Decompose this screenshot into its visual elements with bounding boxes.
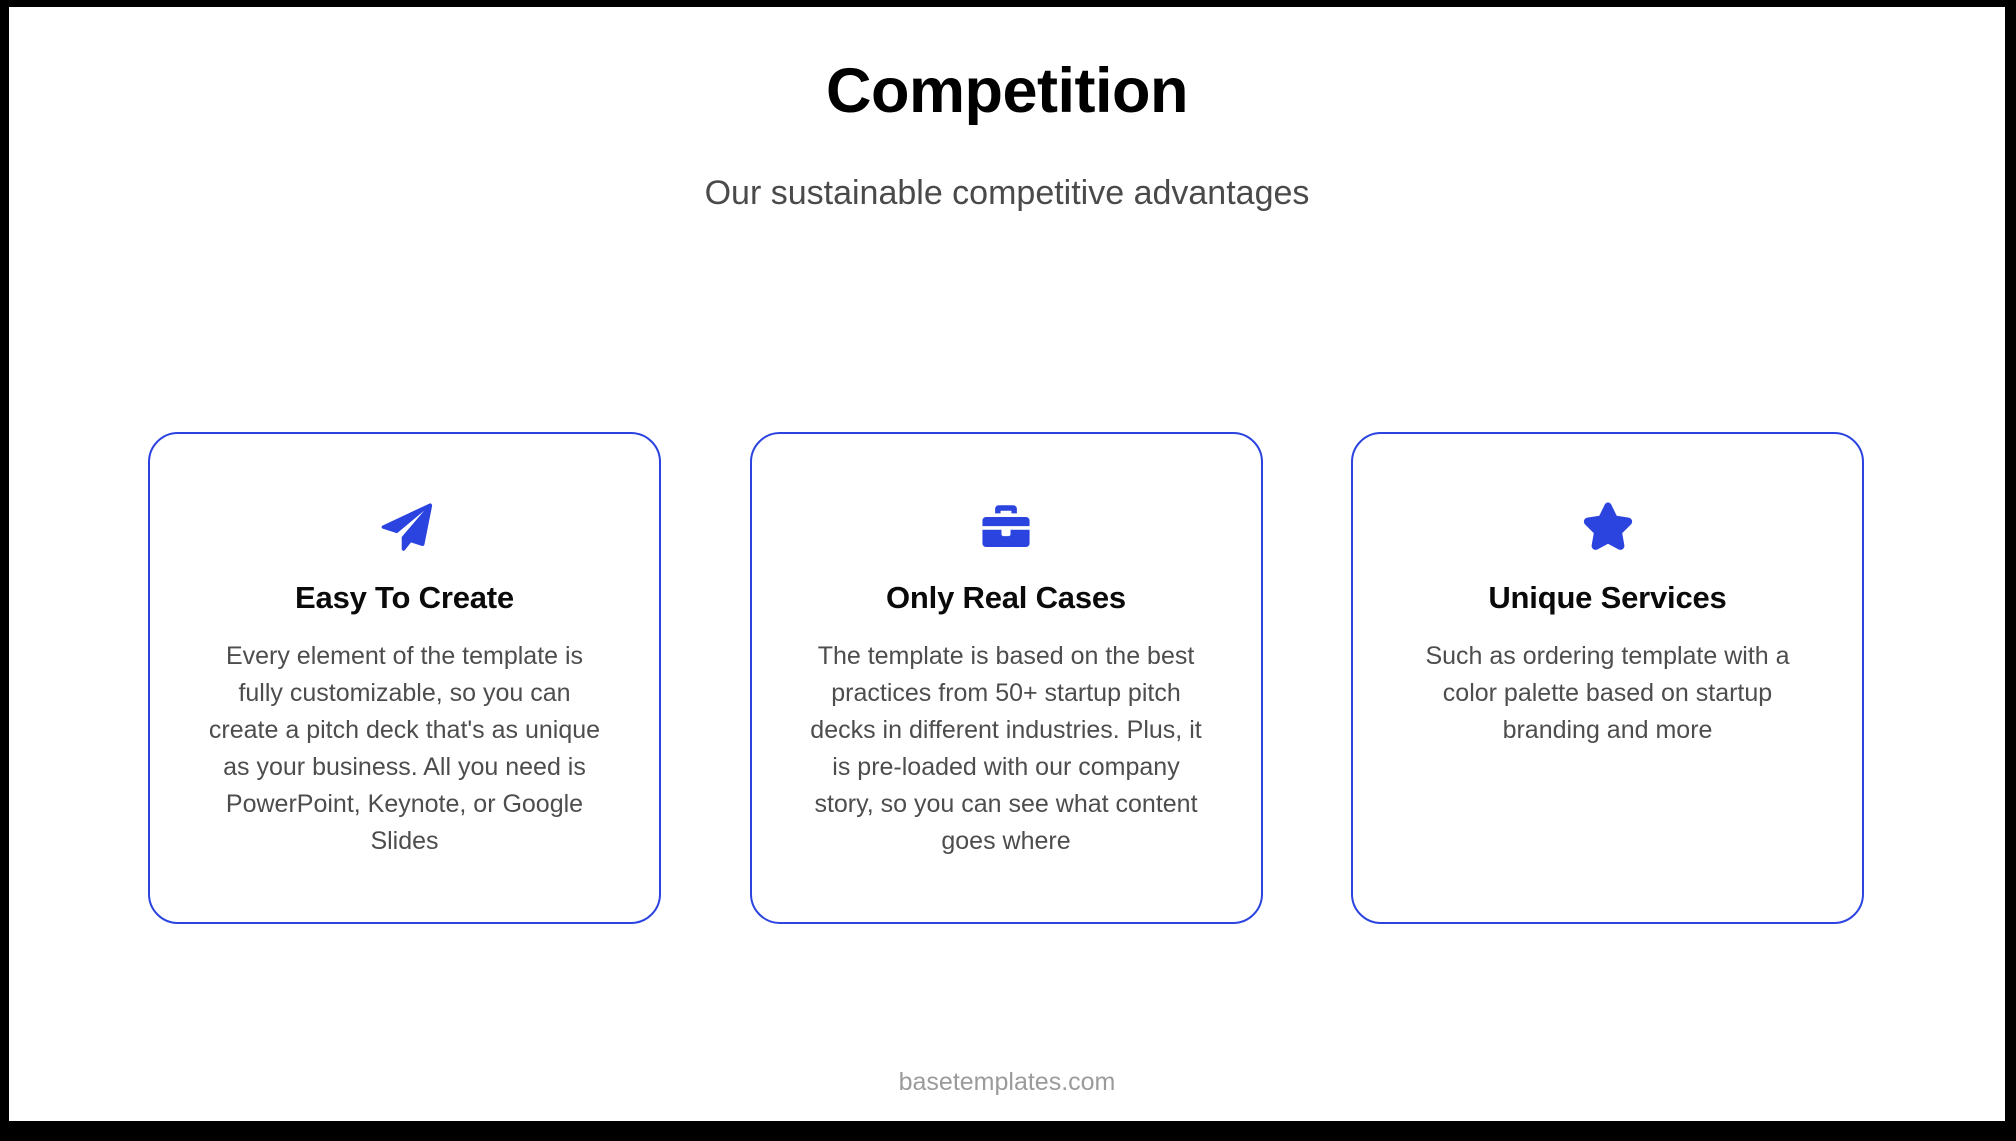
feature-card-body: Every element of the template is fully c… xyxy=(206,638,604,860)
feature-card-title: Easy To Create xyxy=(295,580,514,616)
feature-card-easy-to-create[interactable]: Easy To Create Every element of the temp… xyxy=(148,432,661,924)
feature-card-title: Unique Services xyxy=(1488,580,1726,616)
feature-card-title: Only Real Cases xyxy=(886,580,1126,616)
star-icon xyxy=(1577,496,1639,558)
feature-card-list: Easy To Create Every element of the temp… xyxy=(148,432,1864,924)
footer-watermark: basetemplates.com xyxy=(9,1068,2005,1097)
slide-canvas: Competition Our sustainable competitive … xyxy=(9,7,2005,1121)
page-title: Competition xyxy=(9,55,2005,127)
briefcase-icon xyxy=(975,496,1037,558)
page-subtitle: Our sustainable competitive advantages xyxy=(9,173,2005,214)
feature-card-unique-services[interactable]: Unique Services Such as ordering templat… xyxy=(1351,432,1864,924)
feature-card-body: Such as ordering template with a color p… xyxy=(1409,638,1807,749)
feature-card-body: The template is based on the best practi… xyxy=(807,638,1205,860)
paper-plane-icon xyxy=(374,496,436,558)
feature-card-only-real-cases[interactable]: Only Real Cases The template is based on… xyxy=(750,432,1263,924)
slide-outer-frame: Competition Our sustainable competitive … xyxy=(0,0,2016,1141)
